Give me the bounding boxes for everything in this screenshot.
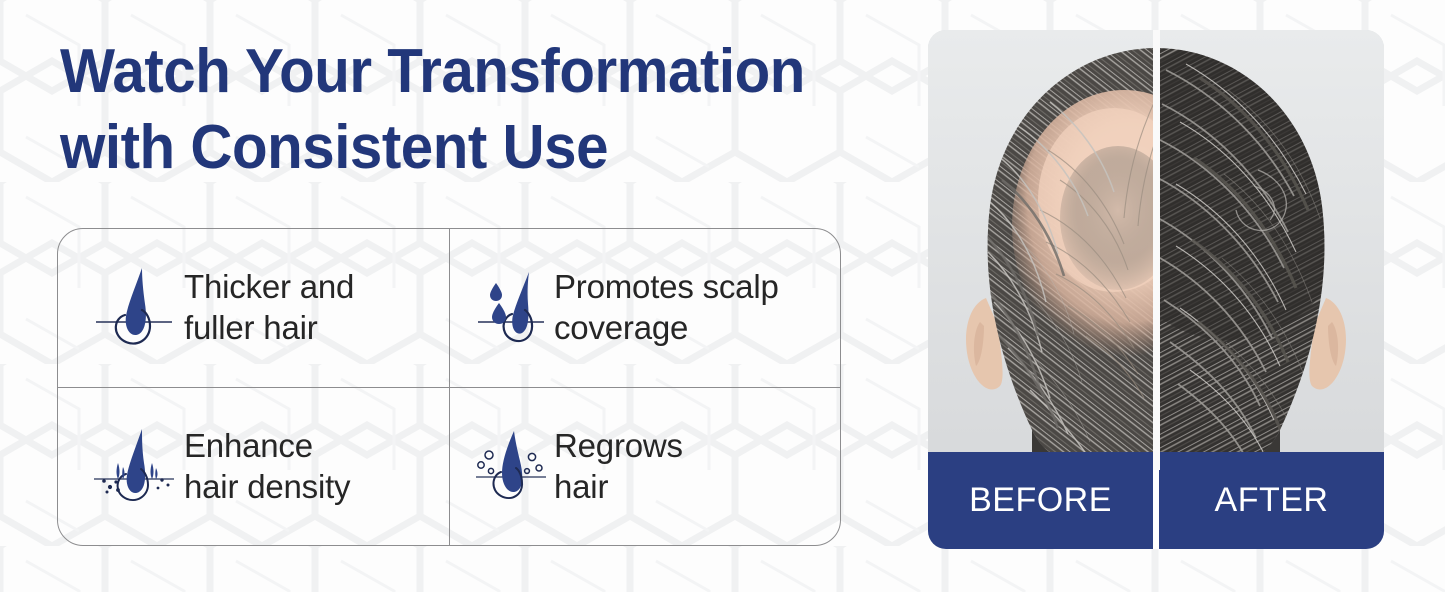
benefit-label: Regrows hair: [554, 426, 683, 507]
hair-follicle-density-icon: [88, 419, 180, 515]
before-label: BEFORE: [928, 452, 1153, 549]
hair-follicle-icon: [88, 260, 180, 356]
before-after-photo: [928, 30, 1384, 470]
benefits-grid: Thicker and fuller hair Promotes scalp c…: [57, 228, 841, 546]
hair-follicle-regrowth-icon: [472, 419, 550, 515]
benefit-label: Thicker and fuller hair: [184, 267, 354, 348]
benefit-item-enhance-hair-density: Enhance hair density: [58, 387, 449, 545]
benefit-label: Promotes scalp coverage: [554, 267, 779, 348]
after-label: AFTER: [1159, 452, 1384, 549]
hair-follicle-droplets-icon: [472, 260, 550, 356]
benefit-item-promotes-scalp-coverage: Promotes scalp coverage: [449, 229, 840, 387]
page-title: Watch Your Transformation with Consisten…: [60, 34, 821, 185]
benefit-item-regrows-hair: Regrows hair: [449, 387, 840, 545]
benefit-label: Enhance hair density: [184, 426, 350, 507]
before-after-panel: BEFORE AFTER: [928, 30, 1384, 549]
benefit-item-thicker-fuller-hair: Thicker and fuller hair: [58, 229, 449, 387]
before-after-divider: [1153, 30, 1160, 470]
